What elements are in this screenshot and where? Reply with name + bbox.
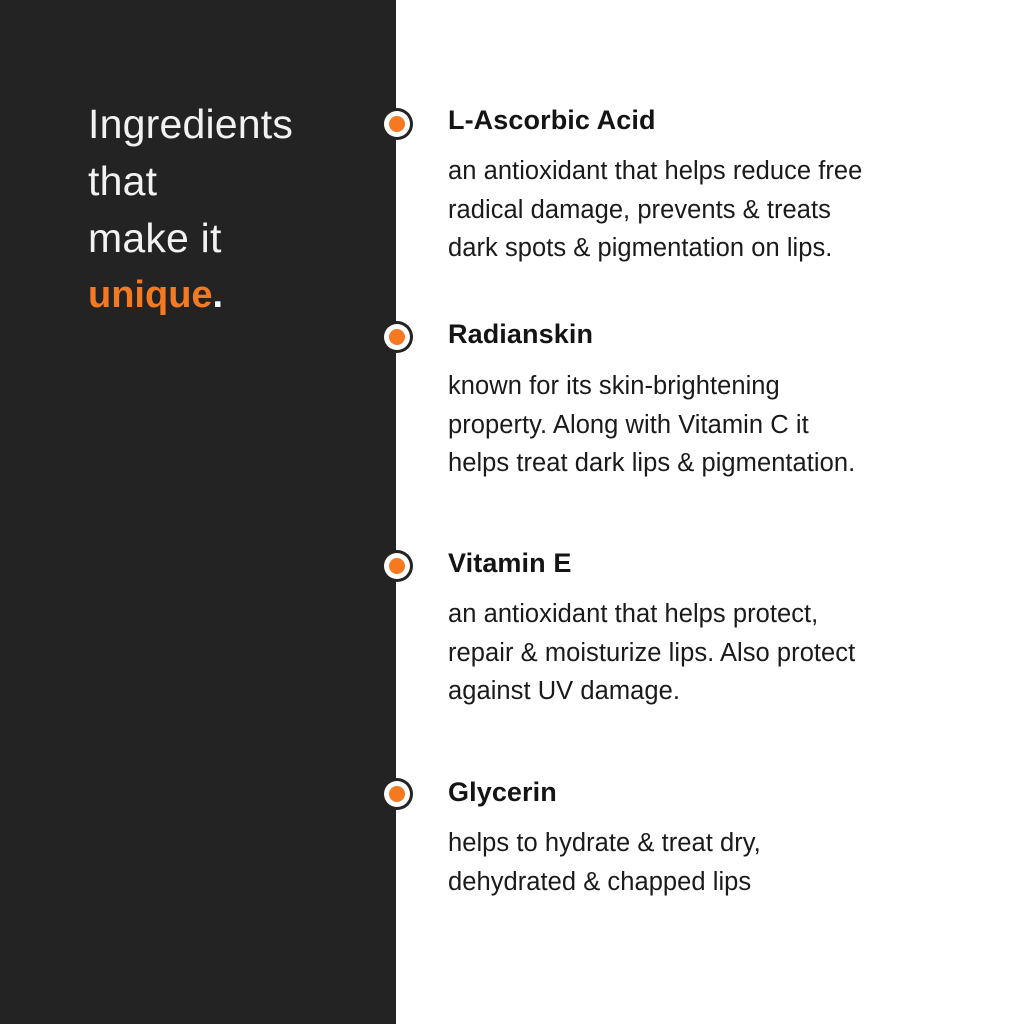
ingredient-description: known for its skin-brightening property.… [448,367,993,483]
description-line: helps treat dark lips & pigmentation. [448,444,993,483]
description-line: property. Along with Vitamin C it [448,406,993,445]
bullet-dot-icon [381,108,413,140]
bullet-dot-icon [381,321,413,353]
description-line: dehydrated & chapped lips [448,863,993,902]
bullet-core [389,116,405,132]
ingredient-title: Radianskin [448,318,593,350]
ingredient-description: an antioxidant that helps reduce free ra… [448,152,993,268]
ingredient-list: L-Ascorbic Acid an antioxidant that help… [0,0,1024,1024]
description-line: an antioxidant that helps reduce free [448,152,993,191]
ingredient-title: Vitamin E [448,547,571,579]
ingredient-description: helps to hydrate & treat dry, dehydrated… [448,824,993,901]
ingredient-title: Glycerin [448,776,557,808]
description-line: helps to hydrate & treat dry, [448,824,993,863]
bullet-dot-icon [381,550,413,582]
description-line: repair & moisturize lips. Also protect [448,634,993,673]
description-line: against UV damage. [448,672,993,711]
description-line: radical damage, prevents & treats [448,191,993,230]
bullet-core [389,786,405,802]
bullet-core [389,329,405,345]
bullet-dot-icon [381,778,413,810]
ingredient-title: L-Ascorbic Acid [448,104,656,136]
description-line: known for its skin-brightening [448,367,993,406]
description-line: an antioxidant that helps protect, [448,595,993,634]
ingredients-infographic: Ingredients that make it unique. L-Ascor… [0,0,1024,1024]
description-line: dark spots & pigmentation on lips. [448,229,993,268]
bullet-core [389,558,405,574]
ingredient-description: an antioxidant that helps protect, repai… [448,595,993,711]
